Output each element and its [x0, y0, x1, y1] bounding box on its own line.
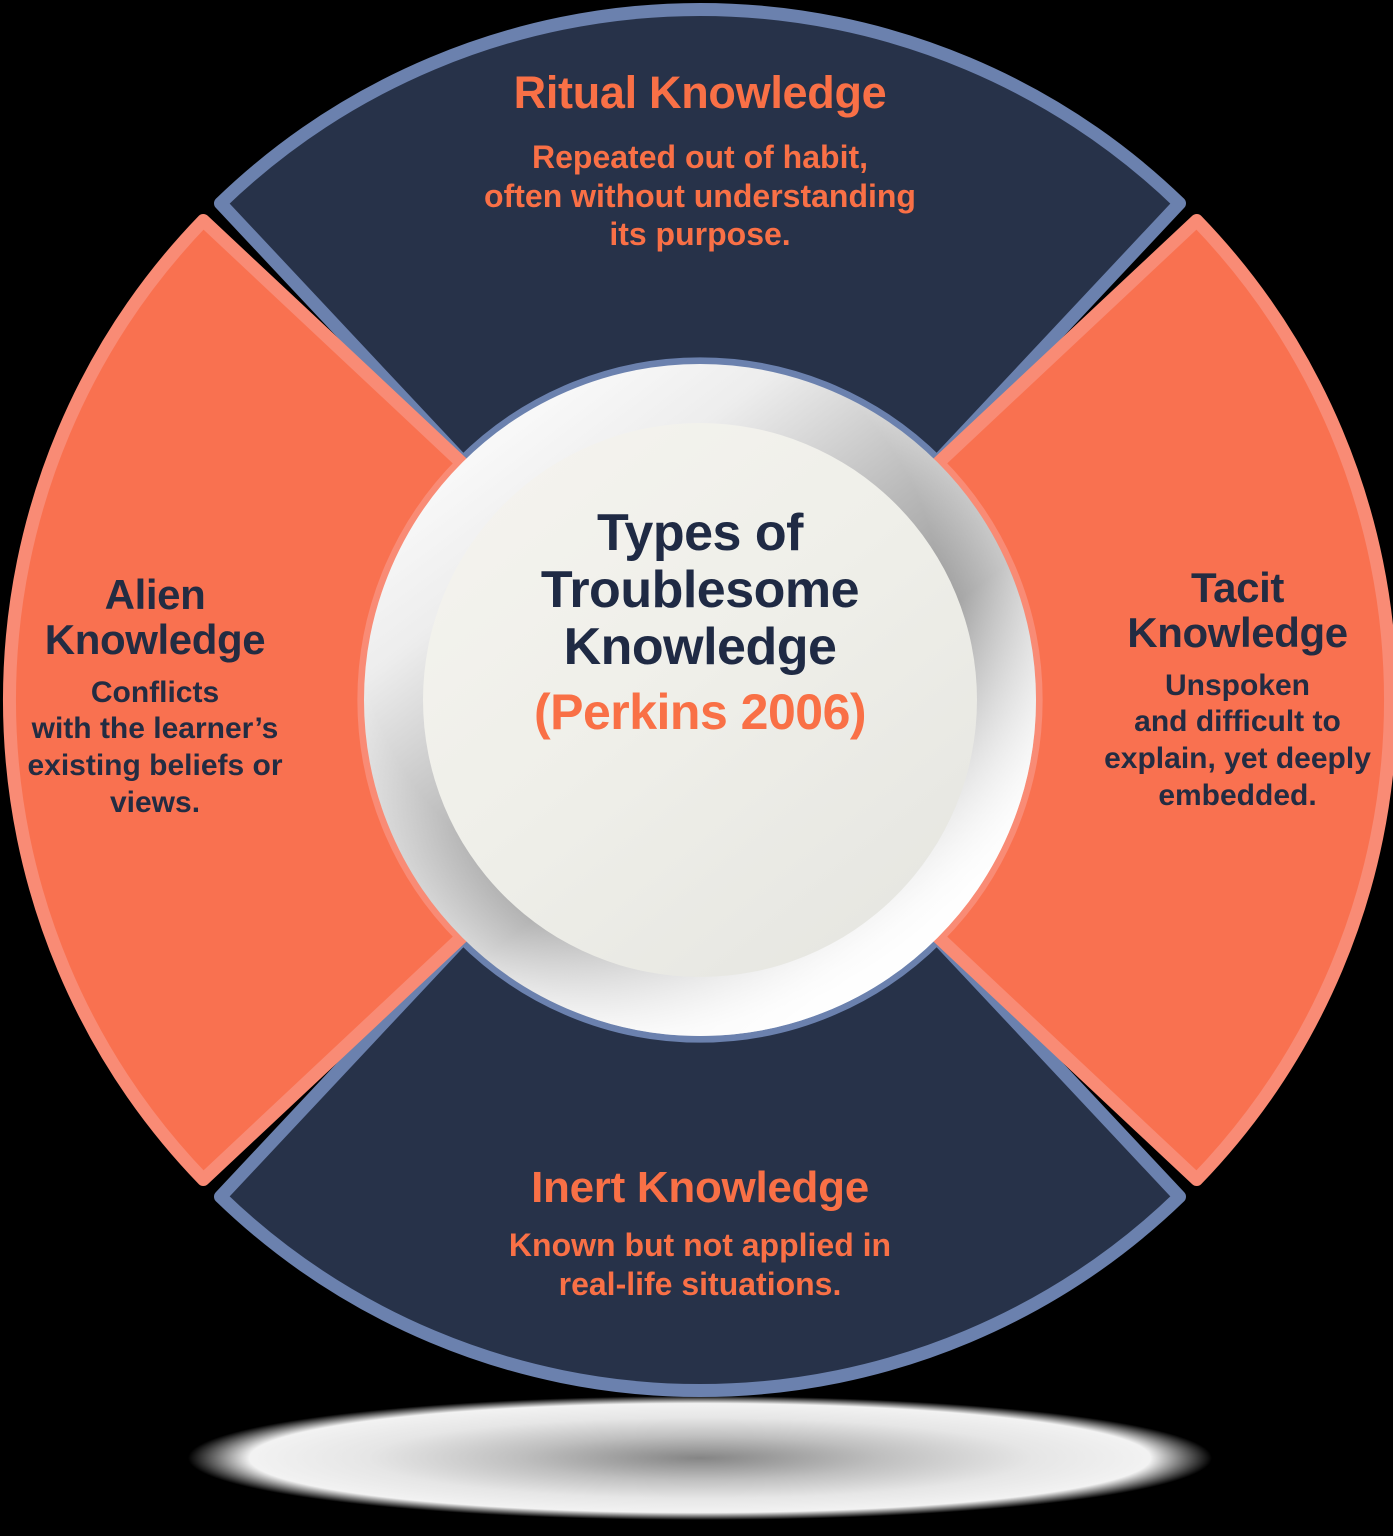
ground-shadow: [188, 1396, 1212, 1520]
diagram-canvas: Ritual Knowledge Repeated out of habit,o…: [0, 0, 1393, 1536]
radial-wheel-graphic: [0, 0, 1393, 1536]
hub-disc: [423, 423, 977, 977]
